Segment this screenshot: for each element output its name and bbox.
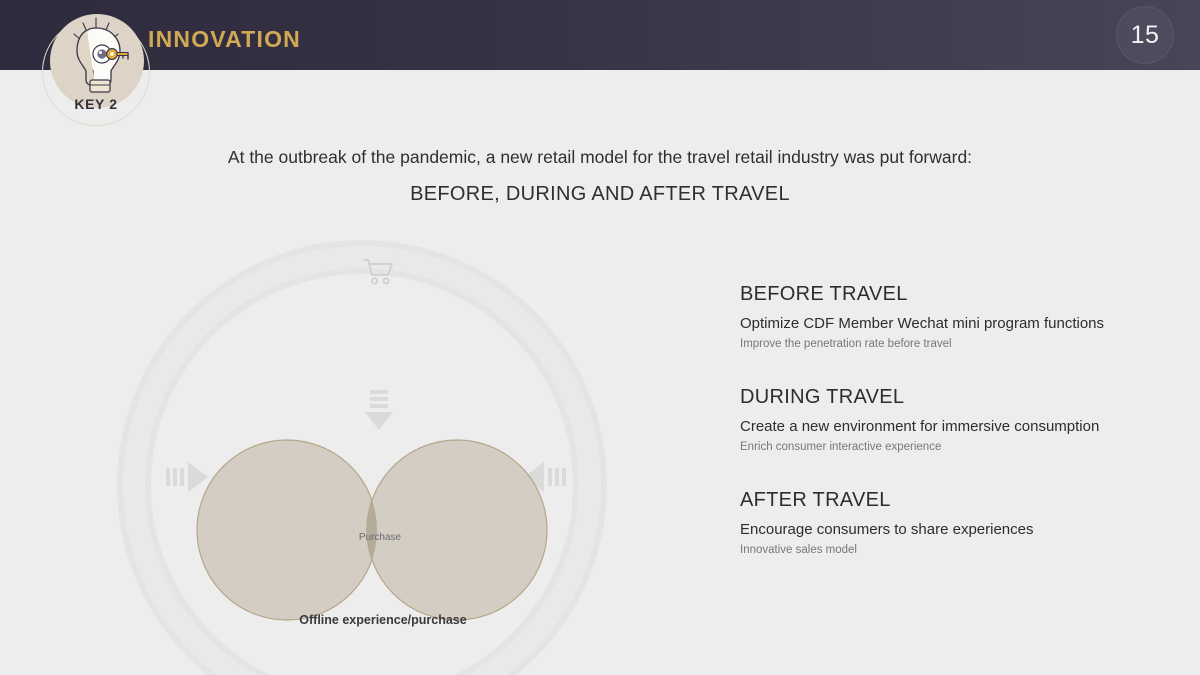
panel-block-during: DURING TRAVEL Create a new environment f… xyxy=(740,386,1170,453)
detail-panel: BEFORE TRAVEL Optimize CDF Member Wechat… xyxy=(740,283,1170,556)
panel-title: AFTER TRAVEL xyxy=(740,489,1170,512)
panel-headline: Create a new environment for immersive c… xyxy=(740,418,1170,435)
arrow-down-icon xyxy=(365,390,393,430)
key-badge-label: KEY 2 xyxy=(40,96,152,112)
panel-title: BEFORE TRAVEL xyxy=(740,283,1170,306)
page-number: 15 xyxy=(1131,21,1160,50)
label-purchase-top: Purchase xyxy=(338,532,422,543)
venn-diagram xyxy=(20,240,720,675)
panel-subtext: Enrich consumer interactive experience xyxy=(740,441,1170,453)
sub-heading: BEFORE, DURING AND AFTER TRAVEL xyxy=(0,183,1200,206)
lead-heading: At the outbreak of the pandemic, a new r… xyxy=(0,147,1200,168)
venn-circle-after xyxy=(367,440,547,620)
panel-block-after: AFTER TRAVEL Encourage consumers to shar… xyxy=(740,489,1170,556)
lightbulb-key-icon xyxy=(50,14,144,108)
page-number-badge: 15 xyxy=(1116,6,1174,64)
journey-diagram: Purchase Shopping Search Compare Purchas… xyxy=(20,240,720,675)
panel-headline: Encourage consumers to share experiences xyxy=(740,521,1170,538)
header-bar: INNOVATION 15 xyxy=(0,0,1200,70)
shopping-cart-icon xyxy=(364,260,392,284)
panel-headline: Optimize CDF Member Wechat mini program … xyxy=(740,315,1170,332)
panel-block-before: BEFORE TRAVEL Optimize CDF Member Wechat… xyxy=(740,283,1170,350)
arrow-right-icon xyxy=(166,462,208,492)
venn-circle-before xyxy=(197,440,377,620)
key-badge: KEY 2 xyxy=(40,12,152,124)
panel-title: DURING TRAVEL xyxy=(740,386,1170,409)
page-title: INNOVATION xyxy=(148,26,301,53)
panel-subtext: Innovative sales model xyxy=(740,544,1170,556)
slide: INNOVATION 15 xyxy=(0,0,1200,675)
panel-subtext: Improve the penetration rate before trav… xyxy=(740,338,1170,350)
label-offline-flow: Offline experience/purchase xyxy=(276,613,490,627)
